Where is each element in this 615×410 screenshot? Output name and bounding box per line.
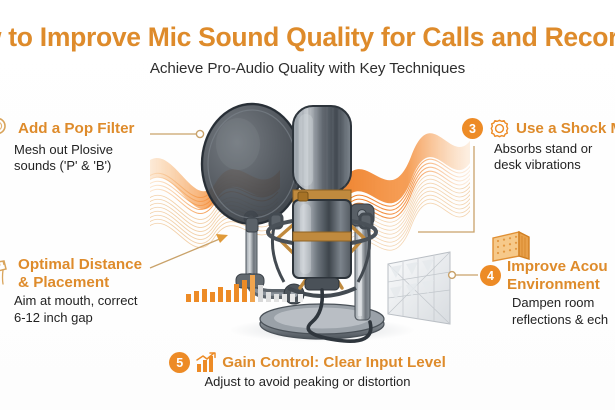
tip-card-gain-control[interactable]: 5 Gain Control: Clear Input Level Adjust… (0, 352, 615, 390)
tip-headline: Add a Pop Filter (18, 120, 134, 138)
microphone-body (293, 106, 351, 290)
tip-card-pop-filter[interactable]: Add a Pop Filter Mesh out Plosive sounds… (0, 118, 195, 175)
page-subtitle: Achieve Pro-Audio Quality with Key Techn… (0, 60, 615, 77)
ruler-icon (0, 259, 12, 289)
tip-card-shock-mount[interactable]: 3 Use a Shock M Absorbs stand or desk vi… (462, 118, 615, 174)
pop-filter-icon (0, 118, 12, 140)
acoustic-foam-panel (388, 252, 450, 324)
tip-headline: Use a Shock M (516, 120, 615, 138)
tip-headline: Improve Acou Environment (507, 258, 608, 293)
tip-description: Mesh out Plosive sounds ('P' & 'B') (14, 142, 195, 175)
tip-headline: Optimal Distance & Placement (18, 256, 142, 291)
tip-badge-3: 3 (462, 118, 483, 139)
tip-card-optimal-distance[interactable]: Optimal Distance & Placement Aim at mout… (0, 256, 188, 326)
tip-description: Adjust to avoid peaking or distortion (0, 374, 615, 390)
tip-badge-4: 4 (480, 265, 501, 286)
tip-card-acoustic-environment[interactable]: 4 Improve Acou Environment Dampen room r… (480, 258, 615, 328)
gear-icon (489, 118, 510, 139)
microphone-illustration (150, 92, 470, 352)
tip-badge-5: 5 (169, 352, 190, 373)
pop-filter (202, 104, 302, 232)
infographic-canvas: w to Improve Mic Sound Quality for Calls… (0, 0, 615, 410)
bar-chart-icon (195, 352, 217, 373)
tip-description: Dampen room reflections & ech (512, 295, 615, 328)
tip-description: Aim at mouth, correct 6-12 inch gap (14, 293, 188, 326)
tip-description: Absorbs stand or desk vibrations (494, 141, 615, 174)
page-title: w to Improve Mic Sound Quality for Calls… (0, 22, 615, 53)
tip-headline: Gain Control: Clear Input Level (222, 354, 446, 372)
